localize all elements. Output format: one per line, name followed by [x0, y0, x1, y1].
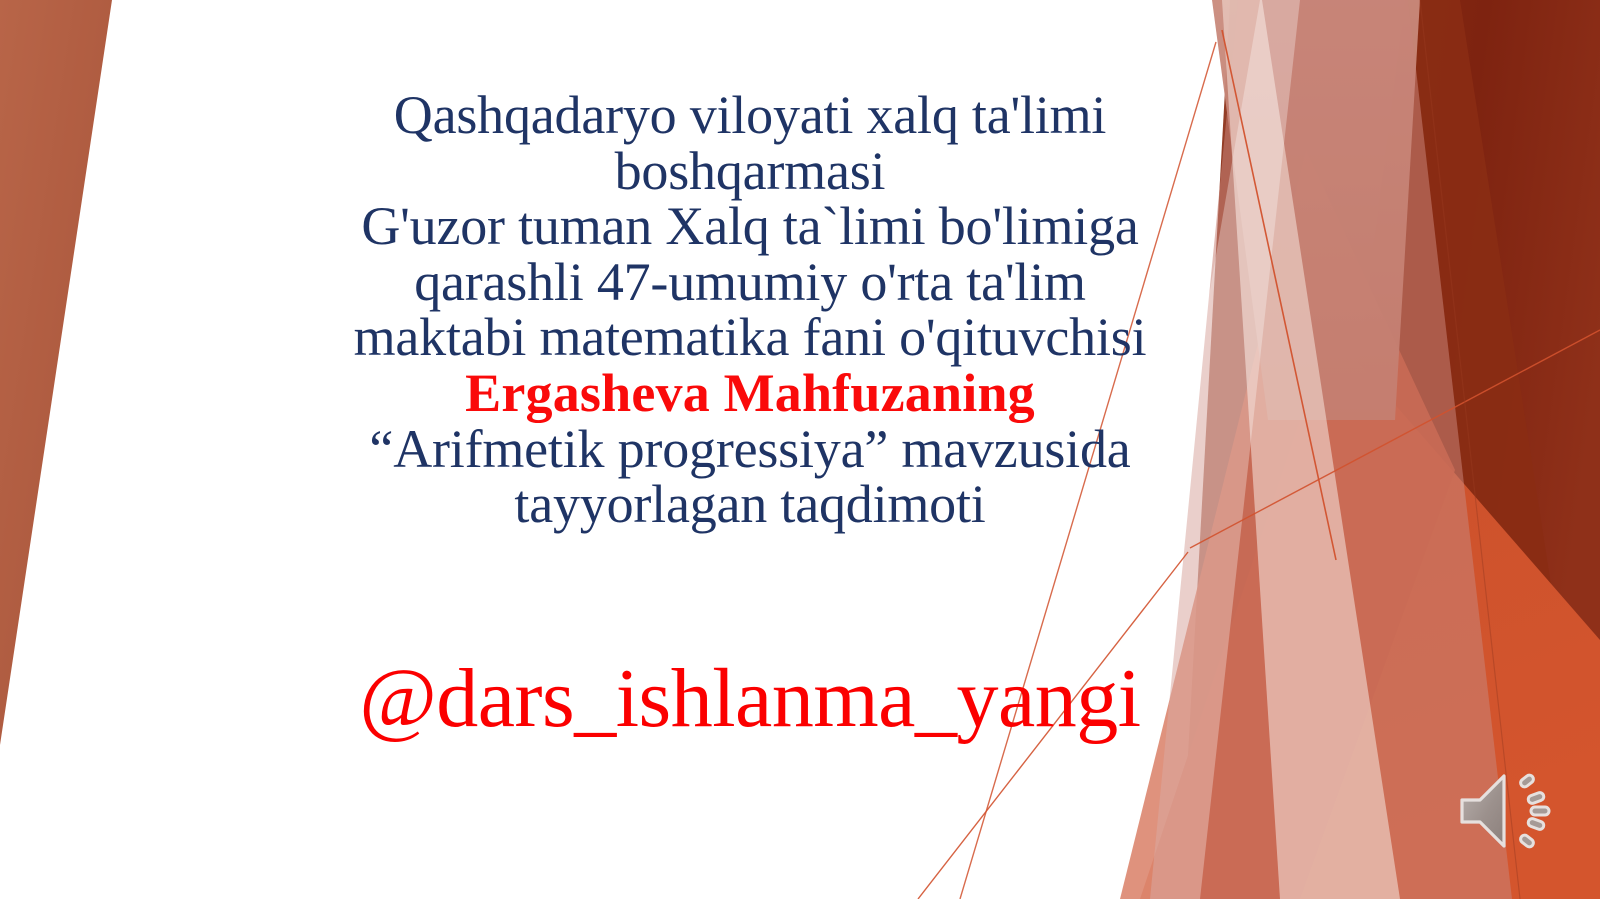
title-line-4: qarashli 47-umumiy o'rta ta'lim — [250, 255, 1250, 311]
presentation-slide: Qashqadaryo viloyati xalq ta'limi boshqa… — [0, 0, 1600, 899]
topic-line-2: tayyorlagan taqdimoti — [250, 477, 1250, 533]
title-line-1: Qashqadaryo viloyati xalq ta'limi — [250, 88, 1250, 144]
left-terracotta-wedge — [0, 0, 112, 745]
channel-handle-block: @dars_ishlanma_yangi — [250, 650, 1250, 747]
title-line-5: maktabi matematika fani o'qituvchisi — [250, 310, 1250, 366]
title-line-3: G'uzor tuman Xalq ta`limi bo'limiga — [250, 199, 1250, 255]
channel-handle-text: @dars_ishlanma_yangi — [359, 652, 1140, 745]
title-line-2: boshqarmasi — [250, 144, 1250, 200]
topic-line-1: “Arifmetik progressiya” mavzusida — [250, 422, 1250, 478]
teacher-name-line: Ergasheva Mahfuzaning — [250, 366, 1250, 422]
slide-title-text-block: Qashqadaryo viloyati xalq ta'limi boshqa… — [250, 88, 1250, 533]
speaker-audio-icon[interactable] — [1452, 768, 1562, 854]
